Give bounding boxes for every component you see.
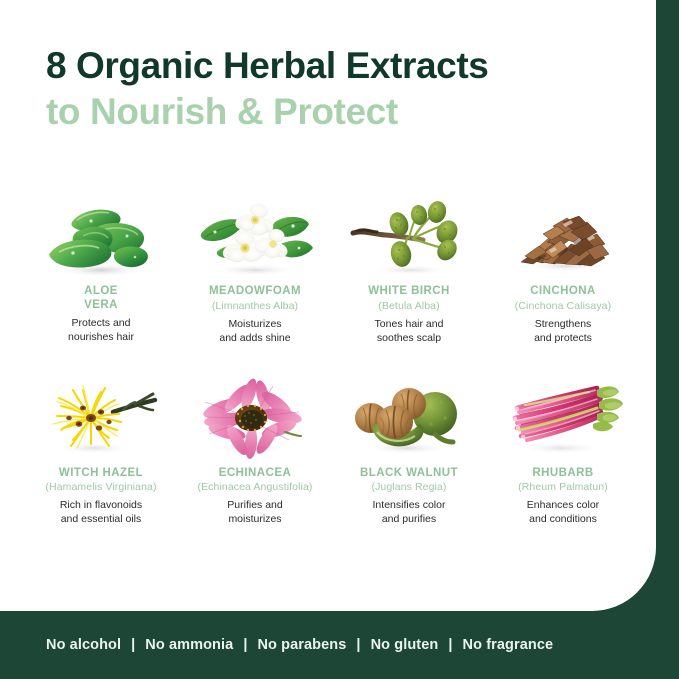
benefit-line-1: Moisturizes: [180, 317, 330, 331]
extract-common-name: WITCH HAZEL: [26, 467, 176, 481]
common-name-line-1: BLACK WALNUT: [360, 467, 458, 479]
extract-card-meadowfoam: MEADOWFOAM (Limnanthes Alba) Moisturizes…: [178, 186, 332, 345]
benefit-line-2: and adds shine: [180, 331, 330, 345]
extract-latin-name: (Limnanthes Alba): [180, 299, 330, 313]
benefit-line-1: Purifies and: [180, 498, 330, 512]
extracts-grid: ALOE VERA Protects and nourishes hair: [24, 186, 640, 526]
free-from-claims-banner: No alcohol | No ammonia | No parabens | …: [0, 611, 679, 679]
claim-separator: |: [243, 637, 247, 653]
echinacea-icon: [180, 368, 330, 460]
extract-latin-name: (Rheum Palmatun): [488, 480, 638, 494]
benefit-line-1: Rich in flavonoids: [26, 498, 176, 512]
benefit-line-2: and conditions: [488, 512, 638, 526]
extract-latin-name: (Cinchona Calisaya): [488, 299, 638, 313]
common-name-line-1: RHUBARB: [532, 467, 593, 479]
title-line-secondary: to Nourish & Protect: [46, 88, 626, 136]
extract-benefit: Moisturizes and adds shine: [180, 317, 330, 345]
extract-card-cinchona: CINCHONA (Cinchona Calisaya) Strengthens…: [486, 186, 640, 345]
aloe-vera-icon: [26, 186, 176, 278]
black-walnut-icon: [334, 368, 484, 460]
claim-no-gluten: No gluten: [371, 637, 439, 653]
title-line-primary: 8 Organic Herbal Extracts: [46, 44, 626, 88]
claim-separator: |: [356, 637, 360, 653]
cinchona-icon: [488, 186, 638, 278]
benefit-line-1: Protects and: [26, 316, 176, 330]
page-title: 8 Organic Herbal Extracts to Nourish & P…: [46, 44, 626, 136]
extract-common-name: ALOE VERA: [26, 285, 176, 312]
extract-benefit: Tones hair and soothes scalp: [334, 317, 484, 345]
extract-common-name: CINCHONA: [488, 285, 638, 299]
extract-latin-name: (Echinacea Angustifolia): [180, 480, 330, 494]
common-name-line-1: ALOE: [84, 285, 118, 297]
extract-benefit: Rich in flavonoids and essential oils: [26, 498, 176, 526]
poster-canvas: 8 Organic Herbal Extracts to Nourish & P…: [0, 0, 679, 679]
extract-benefit: Purifies and moisturizes: [180, 498, 330, 526]
benefit-line-1: Strengthens: [488, 317, 638, 331]
benefit-line-2: moisturizes: [180, 512, 330, 526]
claim-no-ammonia: No ammonia: [145, 637, 233, 653]
extract-card-rhubarb: RHUBARB (Rheum Palmatun) Enhances color …: [486, 368, 640, 527]
extract-common-name: MEADOWFOAM: [180, 285, 330, 299]
extract-card-aloe-vera: ALOE VERA Protects and nourishes hair: [24, 186, 178, 345]
benefit-line-1: Enhances color: [488, 498, 638, 512]
extract-benefit: Strengthens and protects: [488, 317, 638, 345]
rhubarb-icon: [488, 368, 638, 460]
benefit-line-1: Tones hair and: [334, 317, 484, 331]
white-birch-icon: [334, 186, 484, 278]
extract-common-name: RHUBARB: [488, 467, 638, 481]
extract-card-white-birch: WHITE BIRCH (Betula Alba) Tones hair and…: [332, 186, 486, 345]
extract-card-black-walnut: BLACK WALNUT (Juglans Regia) Intensifies…: [332, 368, 486, 527]
extracts-row: ALOE VERA Protects and nourishes hair: [24, 186, 640, 345]
claim-no-parabens: No parabens: [257, 637, 346, 653]
common-name-line-1: CINCHONA: [530, 285, 596, 297]
claim-separator: |: [448, 637, 452, 653]
claims-list: No alcohol | No ammonia | No parabens | …: [46, 637, 553, 653]
meadowfoam-icon: [180, 186, 330, 278]
extract-card-echinacea: ECHINACEA (Echinacea Angustifolia) Purif…: [178, 368, 332, 527]
extract-common-name: ECHINACEA: [180, 467, 330, 481]
extract-benefit: Intensifies color and purifies: [334, 498, 484, 526]
benefit-line-2: and essential oils: [26, 512, 176, 526]
extract-benefit: Enhances color and conditions: [488, 498, 638, 526]
extract-latin-name: (Hamamelis Virginiana): [26, 480, 176, 494]
extract-card-witch-hazel: WITCH HAZEL (Hamamelis Virginiana) Rich …: [24, 368, 178, 527]
common-name-line-1: MEADOWFOAM: [209, 285, 301, 297]
claim-no-fragrance: No fragrance: [463, 637, 554, 653]
extracts-row: WITCH HAZEL (Hamamelis Virginiana) Rich …: [24, 368, 640, 527]
claim-separator: |: [131, 637, 135, 653]
claim-no-alcohol: No alcohol: [46, 637, 121, 653]
extract-common-name: WHITE BIRCH: [334, 285, 484, 299]
common-name-line-1: WITCH HAZEL: [59, 467, 143, 479]
extract-latin-name: (Betula Alba): [334, 299, 484, 313]
benefit-line-2: and protects: [488, 331, 638, 345]
extract-benefit: Protects and nourishes hair: [26, 316, 176, 344]
witch-hazel-icon: [26, 368, 176, 460]
extract-common-name: BLACK WALNUT: [334, 467, 484, 481]
benefit-line-1: Intensifies color: [334, 498, 484, 512]
benefit-line-2: soothes scalp: [334, 331, 484, 345]
extract-latin-name: (Juglans Regia): [334, 480, 484, 494]
benefit-line-2: nourishes hair: [26, 330, 176, 344]
common-name-line-1: WHITE BIRCH: [368, 285, 450, 297]
common-name-line-2: VERA: [84, 299, 118, 311]
common-name-line-1: ECHINACEA: [219, 467, 291, 479]
benefit-line-2: and purifies: [334, 512, 484, 526]
